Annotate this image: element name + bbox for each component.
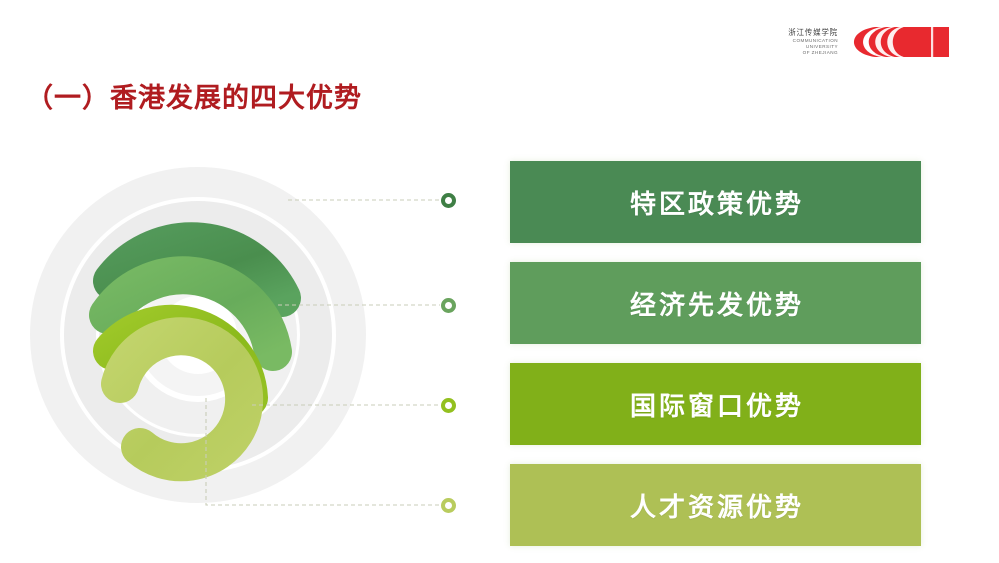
- university-logo: 浙江传媒学院 COMMUNICATION UNIVERSITY OF ZHEJI…: [767, 18, 952, 66]
- advantage-bar-4-label: 人才资源优势: [627, 487, 804, 524]
- page-title: （一）香港发展的四大优势: [26, 76, 362, 115]
- logo-chinese-name: 浙江传媒学院: [788, 27, 838, 38]
- advantage-bar-1[interactable]: 特区政策优势: [510, 161, 921, 243]
- logo-mark-icon: [845, 23, 949, 61]
- logo-english-line-3: OF ZHEJIANG: [803, 50, 838, 56]
- advantages-list: 特区政策优势 经济先发优势 国际窗口优势 人才资源优势: [510, 161, 921, 546]
- advantage-bar-3-label: 国际窗口优势: [627, 386, 804, 423]
- advantage-bar-3[interactable]: 国际窗口优势: [510, 363, 921, 445]
- advantage-bar-2-label: 经济先发优势: [627, 285, 804, 322]
- slide-canvas: 浙江传媒学院 COMMUNICATION UNIVERSITY OF ZHEJI…: [0, 0, 999, 563]
- advantage-bar-4[interactable]: 人才资源优势: [510, 464, 921, 546]
- advantage-bar-2[interactable]: 经济先发优势: [510, 262, 921, 344]
- connector-dot-3: [441, 398, 456, 413]
- connector-dot-2: [441, 298, 456, 313]
- logo-text-block: 浙江传媒学院 COMMUNICATION UNIVERSITY OF ZHEJI…: [767, 21, 841, 63]
- advantage-bar-1-label: 特区政策优势: [627, 184, 804, 221]
- concentric-arc-diagram: [20, 130, 420, 540]
- connector-dot-1: [441, 193, 456, 208]
- connector-dot-4: [441, 498, 456, 513]
